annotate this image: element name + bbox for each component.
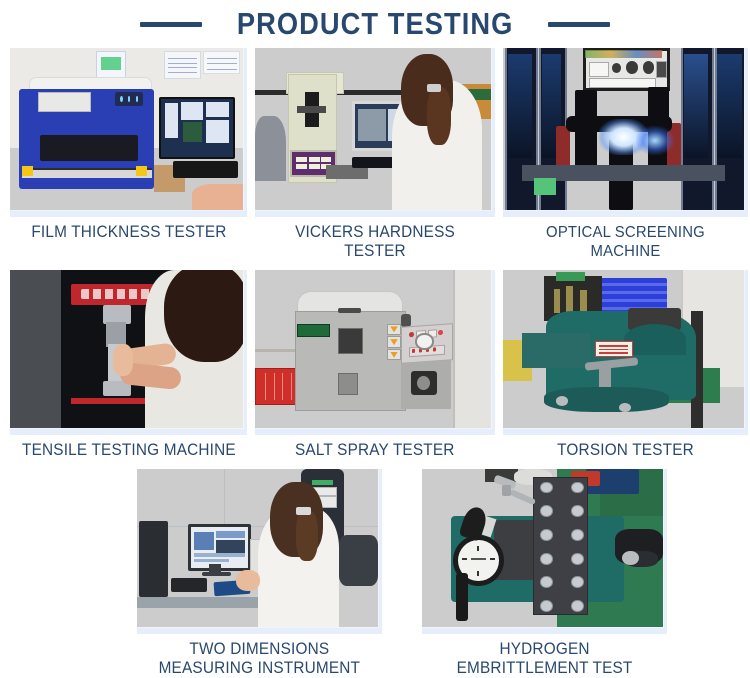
optical-screening-machine-photo <box>503 48 744 210</box>
gallery-item-caption: TORSION TESTER <box>557 435 694 460</box>
gallery-item-two-dimensions-measuring-instrument[interactable]: TWO DIMENSIONS MEASURING INSTRUMENT <box>137 469 382 678</box>
gallery-row-2: TENSILE TESTING MACHINE <box>0 270 750 460</box>
gallery-item-caption: FILM THICKNESS TESTER <box>31 217 226 242</box>
torsion-tester-photo <box>503 270 744 428</box>
photo-frame <box>503 270 748 435</box>
product-testing-gallery: FILM THICKNESS TESTER <box>0 48 750 678</box>
gallery-item-film-thickness-tester[interactable]: FILM THICKNESS TESTER <box>10 48 247 261</box>
gallery-item-optical-screening-machine[interactable]: OPTICAL SCREENING MACHINE <box>503 48 748 261</box>
gallery-item-tensile-testing-machine[interactable]: TENSILE TESTING MACHINE <box>10 270 247 460</box>
gallery-item-caption: SALT SPRAY TESTER <box>295 435 455 460</box>
gallery-item-caption: TENSILE TESTING MACHINE <box>22 435 236 460</box>
salt-spray-tester-photo <box>255 270 491 428</box>
gallery-item-caption: TWO DIMENSIONS MEASURING INSTRUMENT <box>159 634 361 678</box>
photo-frame <box>255 270 495 435</box>
gallery-item-caption: HYDROGEN EMBRITTLEMENT TEST <box>457 634 633 678</box>
photo-frame <box>137 469 382 634</box>
two-dimensions-measuring-instrument-photo <box>137 469 378 627</box>
title-dash-right-icon <box>548 22 610 27</box>
photo-frame <box>255 48 495 217</box>
gallery-item-caption: VICKERS HARDNESS TESTER <box>263 217 486 261</box>
tensile-testing-machine-photo <box>10 270 243 428</box>
photo-frame <box>422 469 667 634</box>
gallery-item-torsion-tester[interactable]: TORSION TESTER <box>503 270 748 460</box>
gallery-row-1: FILM THICKNESS TESTER <box>0 48 750 261</box>
photo-frame <box>10 48 247 217</box>
hydrogen-embrittlement-test-photo <box>422 469 663 627</box>
gallery-item-hydrogen-embrittlement-test[interactable]: HYDROGEN EMBRITTLEMENT TEST <box>422 469 667 678</box>
photo-frame <box>10 270 247 435</box>
title-dash-left-icon <box>140 22 202 27</box>
film-thickness-tester-photo <box>10 48 243 210</box>
vickers-hardness-tester-photo <box>255 48 491 210</box>
gallery-item-vickers-hardness-tester[interactable]: VICKERS HARDNESS TESTER <box>255 48 495 261</box>
photo-frame <box>503 48 748 217</box>
page-header: PRODUCT TESTING <box>0 0 750 48</box>
gallery-item-caption: OPTICAL SCREENING MACHINE <box>512 217 740 261</box>
gallery-item-salt-spray-tester[interactable]: SALT SPRAY TESTER <box>255 270 495 460</box>
gallery-row-3: TWO DIMENSIONS MEASURING INSTRUMENT <box>0 469 750 678</box>
page-title: PRODUCT TESTING <box>237 6 514 42</box>
